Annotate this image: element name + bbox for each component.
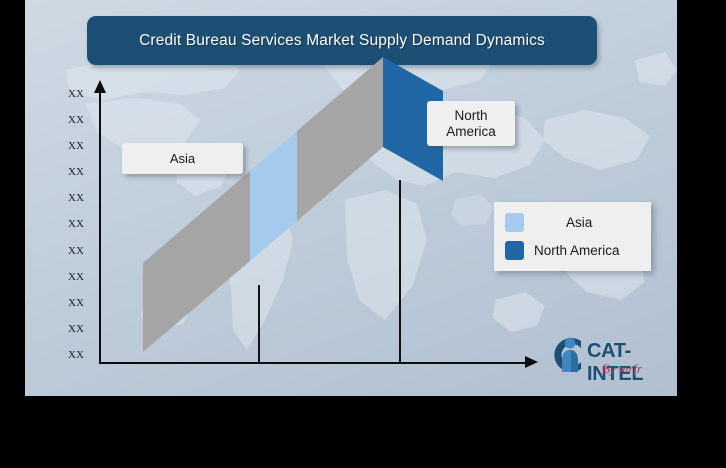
legend-label-asia: Asia bbox=[566, 215, 592, 230]
y-tick-label: XX bbox=[63, 166, 89, 178]
slide-canvas: Credit Bureau Services Market Supply Dem… bbox=[25, 0, 677, 396]
band-segment-gray-1 bbox=[143, 171, 250, 352]
legend-item-north-america[interactable]: North America bbox=[494, 236, 651, 264]
legend-swatch-north-america bbox=[505, 241, 524, 260]
band-segment-gray-2 bbox=[297, 57, 383, 221]
callout-asia: Asia bbox=[122, 143, 243, 174]
legend: Asia North America bbox=[494, 202, 651, 271]
y-tick-label: XX bbox=[63, 114, 89, 126]
logo[interactable]: CAT-INTEL By mrfr bbox=[545, 328, 670, 386]
category-divider-1 bbox=[258, 285, 260, 363]
y-tick-label: XX bbox=[63, 323, 89, 335]
y-tick-label: XX bbox=[63, 271, 89, 283]
page-title: Credit Bureau Services Market Supply Dem… bbox=[139, 32, 545, 50]
slide-letterbox: Credit Bureau Services Market Supply Dem… bbox=[0, 0, 726, 468]
c-person-icon bbox=[545, 332, 591, 378]
callout-north-america-line1: North bbox=[446, 108, 496, 124]
arrow-up-icon bbox=[94, 80, 106, 93]
y-tick-label: XX bbox=[63, 88, 89, 100]
y-tick-label: XX bbox=[63, 140, 89, 152]
callout-asia-label: Asia bbox=[170, 151, 195, 166]
logo-byline: By mrfr bbox=[602, 361, 642, 377]
category-divider-2 bbox=[399, 180, 401, 363]
x-axis-line bbox=[99, 362, 527, 364]
legend-item-asia[interactable]: Asia bbox=[494, 208, 651, 236]
y-tick-label: XX bbox=[63, 245, 89, 257]
callout-north-america: North America bbox=[427, 101, 515, 146]
arrow-right-icon bbox=[525, 356, 538, 368]
legend-label-north-america: North America bbox=[534, 243, 620, 258]
band-segment-asia bbox=[250, 131, 297, 261]
y-axis-line bbox=[99, 92, 101, 364]
title-banner: Credit Bureau Services Market Supply Dem… bbox=[87, 16, 597, 65]
legend-swatch-asia bbox=[505, 213, 524, 232]
callout-north-america-line2: America bbox=[446, 124, 496, 140]
y-tick-label: XX bbox=[63, 349, 89, 361]
y-tick-label: XX bbox=[63, 297, 89, 309]
y-tick-label: XX bbox=[63, 218, 89, 230]
y-tick-label: XX bbox=[63, 192, 89, 204]
